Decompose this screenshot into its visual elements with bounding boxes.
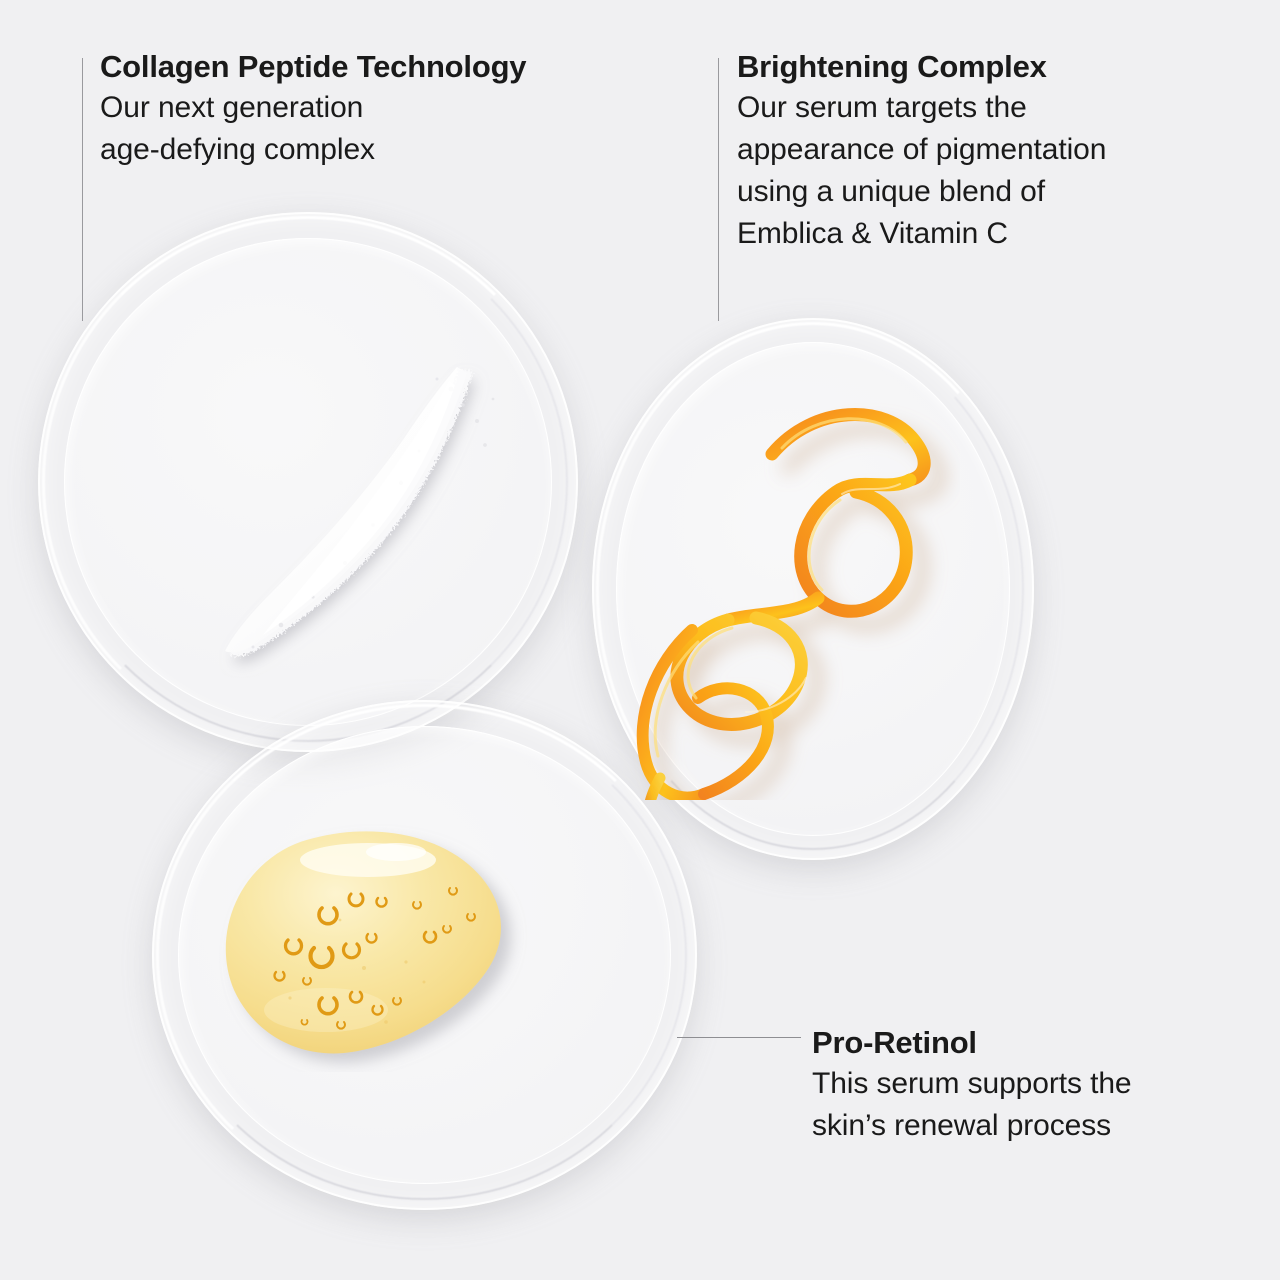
- leader-line-brightening: [718, 58, 719, 321]
- callout-collagen-title: Collagen Peptide Technology: [100, 47, 526, 87]
- product-ingredient-infographic: Collagen Peptide Technology Our next gen…: [0, 0, 1280, 1280]
- callout-retinol-title: Pro-Retinol: [812, 1023, 1132, 1063]
- petri-dish-powder: [38, 212, 578, 752]
- petri-dish-serum: [152, 700, 697, 1210]
- leader-line-retinol: [677, 1037, 801, 1038]
- petri-dish-peel-rim-shadow: [602, 328, 1024, 850]
- callout-brightening-title: Brightening Complex: [737, 47, 1106, 87]
- callout-retinol: Pro-Retinol This serum supports the skin…: [812, 1023, 1132, 1147]
- callout-collagen-body: Our next generation age-defying complex: [100, 87, 526, 171]
- leader-line-collagen: [82, 58, 83, 321]
- petri-dish-powder-rim-shadow: [48, 222, 568, 742]
- petri-dish-serum-rim-shadow: [162, 710, 687, 1200]
- petri-dish-orange-peel: [592, 318, 1034, 860]
- callout-retinol-body: This serum supports the skin’s renewal p…: [812, 1063, 1132, 1147]
- callout-brightening: Brightening Complex Our serum targets th…: [737, 47, 1106, 255]
- callout-brightening-body: Our serum targets the appearance of pigm…: [737, 87, 1106, 255]
- callout-collagen: Collagen Peptide Technology Our next gen…: [100, 47, 526, 171]
